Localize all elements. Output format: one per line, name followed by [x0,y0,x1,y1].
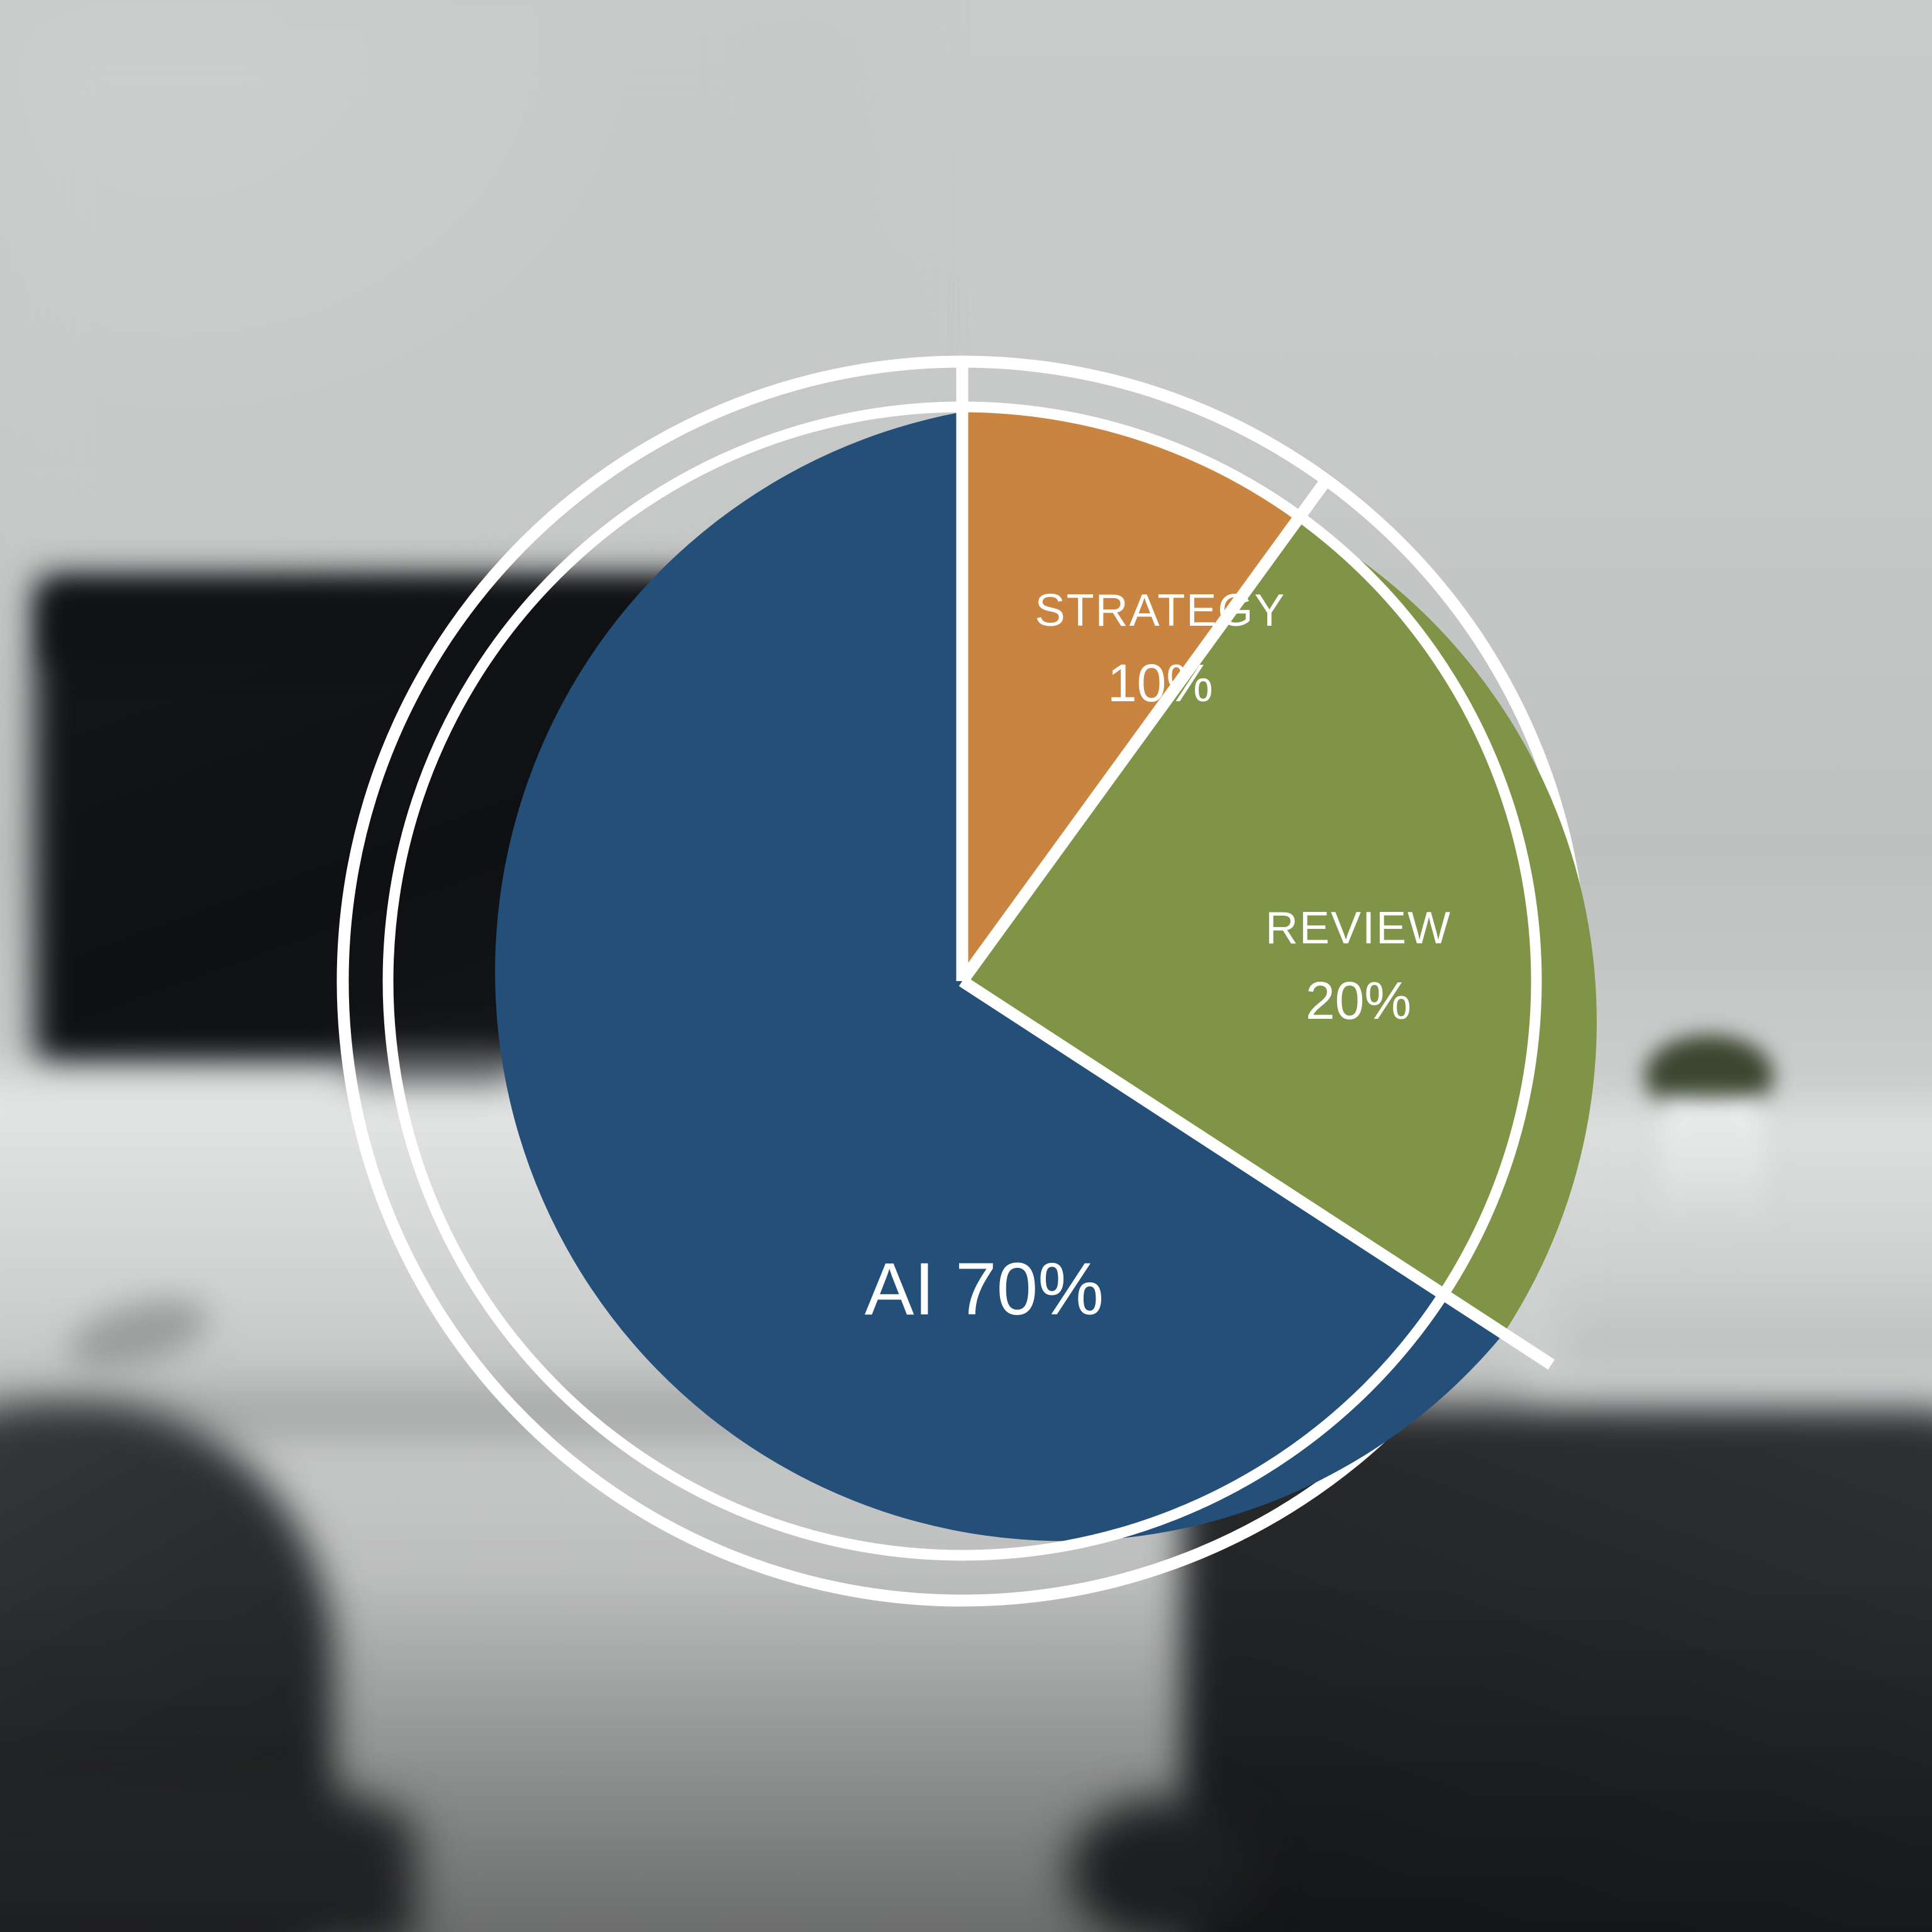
slice-label-review-value: 20% [1306,971,1411,1030]
slice-label-review-name: REVIEW [1265,903,1452,953]
screenshot-canvas: STRATEGY 10% REVIEW 20% AI 70% [0,0,1932,1932]
slice-label-ai: AI 70% [865,1248,1104,1331]
pie-chart-svg: STRATEGY 10% REVIEW 20% AI 70% [0,0,1932,1932]
pie-chart: STRATEGY 10% REVIEW 20% AI 70% [0,0,1932,1932]
slice-label-strategy-name: STRATEGY [1035,586,1286,636]
slice-label-strategy-value: 10% [1108,653,1213,713]
